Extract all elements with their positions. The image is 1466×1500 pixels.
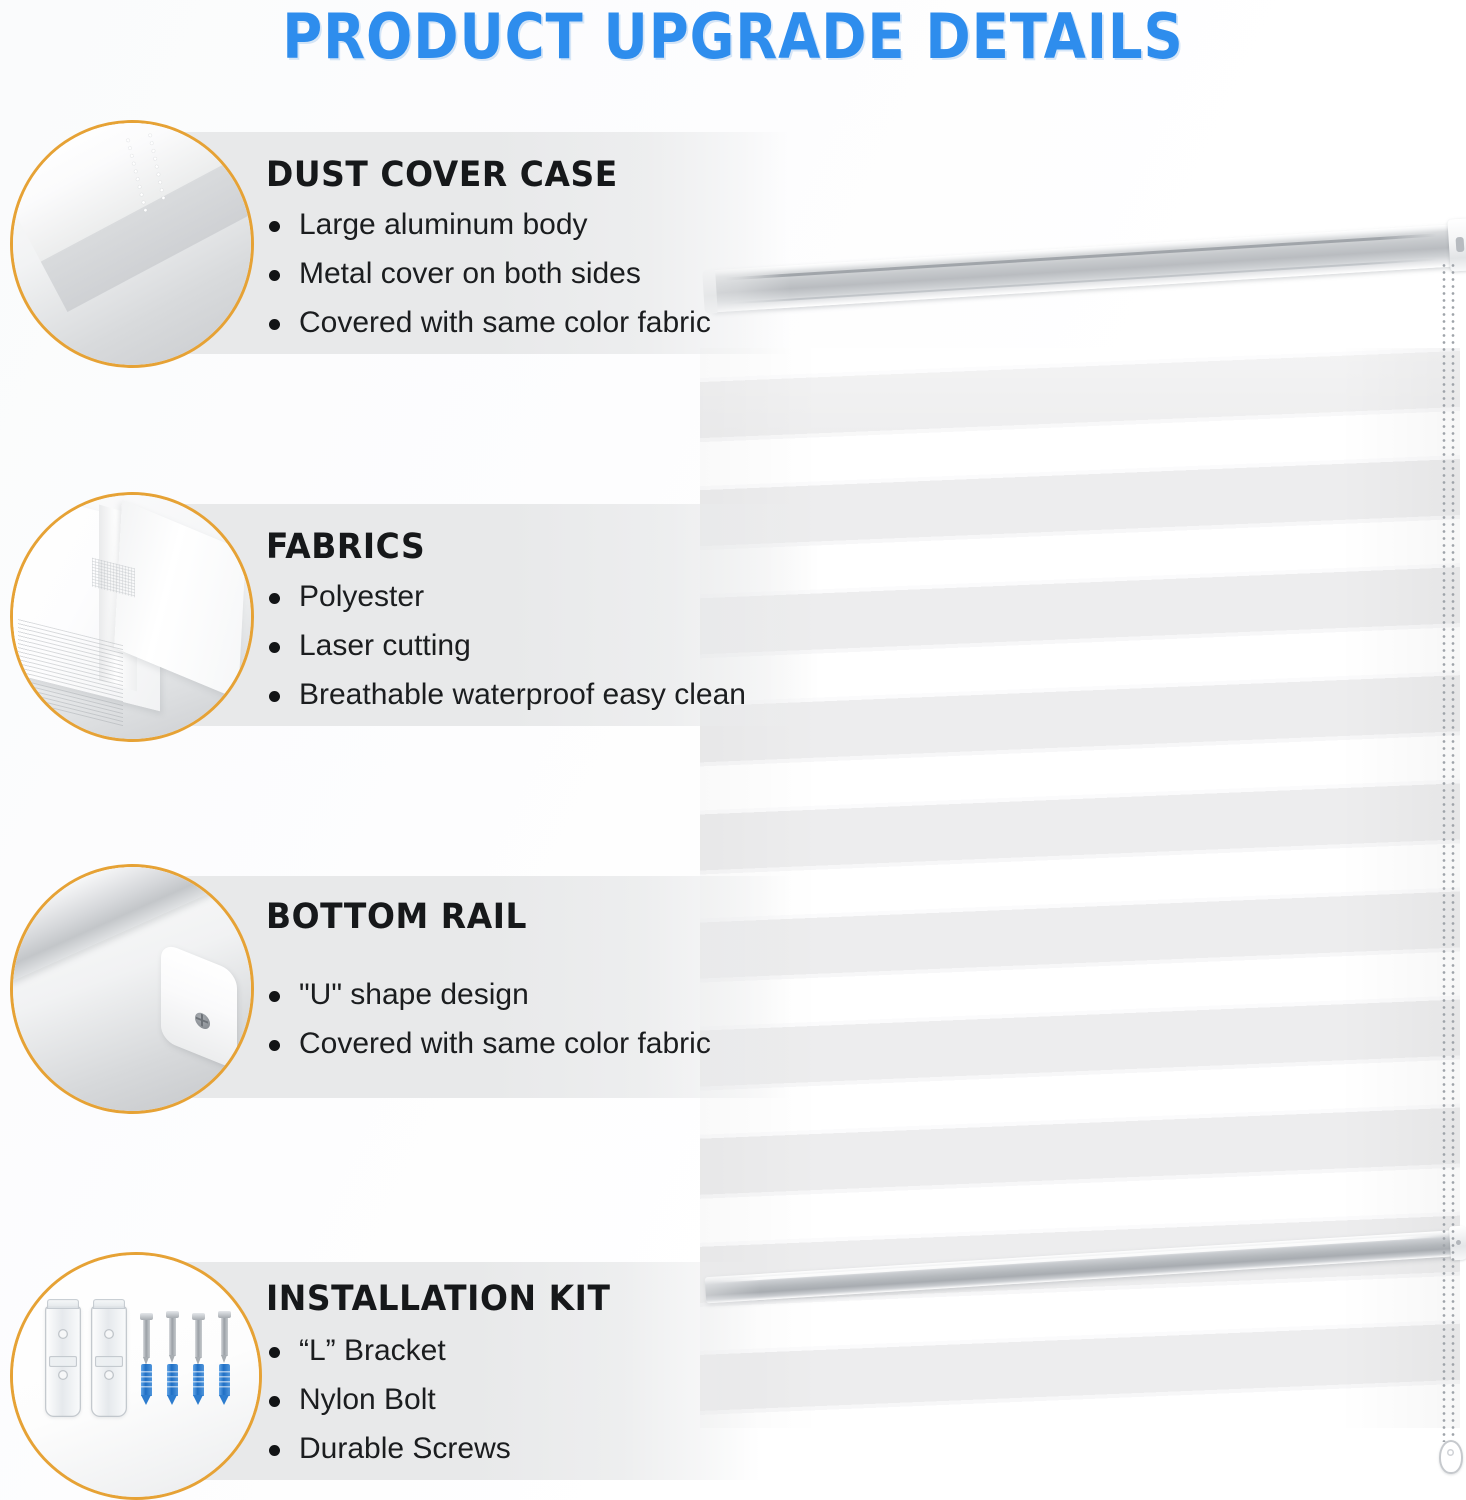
folded-fabric-photo bbox=[13, 495, 251, 739]
zebra-roller-blind-product-photo bbox=[700, 218, 1466, 1348]
photo-anchor-ribs bbox=[141, 1371, 152, 1391]
feature-bullet: "U" shape design bbox=[266, 978, 711, 1011]
photo-nylon-bolt-anchor bbox=[193, 1364, 204, 1396]
photo-anchor-tip bbox=[219, 1395, 229, 1405]
page-title: PRODUCT UPGRADE DETAILS bbox=[88, 4, 1378, 70]
photo-rail-end-cap bbox=[161, 942, 237, 1070]
photo-anchor-ribs bbox=[193, 1371, 204, 1391]
installation-kit-photo-oval bbox=[10, 1252, 262, 1500]
feature-bullet-list: Polyester Laser cutting Breathable water… bbox=[266, 580, 746, 711]
photo-bracket-top-flange bbox=[47, 1299, 79, 1309]
photo-anchor-tip bbox=[167, 1395, 177, 1405]
photo-bracket-hole bbox=[58, 1370, 68, 1380]
headrail-body bbox=[708, 224, 1461, 312]
feature-heading: DUST COVER CASE bbox=[266, 156, 684, 194]
photo-screw-tip bbox=[221, 1355, 227, 1363]
photo-l-bracket bbox=[91, 1306, 127, 1417]
brackets-screws-anchors-photo bbox=[13, 1255, 259, 1497]
photo-nylon-bolt-anchor bbox=[167, 1364, 178, 1396]
feature-text-group: FABRICS Polyester Laser cutting Breathab… bbox=[266, 528, 746, 711]
photo-bracket-hole bbox=[104, 1370, 114, 1380]
bottom-rail-photo-oval bbox=[10, 864, 254, 1114]
photo-bracket-tab bbox=[95, 1356, 123, 1367]
feature-heading: FABRICS bbox=[266, 528, 717, 566]
photo-screw-head bbox=[218, 1311, 231, 1318]
photo-bracket-top-flange bbox=[93, 1299, 125, 1309]
bottom-rail-endcap-photo bbox=[13, 867, 251, 1111]
photo-anchor-ribs bbox=[167, 1371, 178, 1391]
photo-screw-icon bbox=[194, 1010, 209, 1031]
photo-anchor-tip bbox=[193, 1395, 203, 1405]
photo-screw-tip bbox=[169, 1355, 175, 1363]
feature-block-installation-kit: INSTALLATION KIT “L” Bracket Nylon Bolt … bbox=[0, 1252, 760, 1500]
feature-bullet: Covered with same color fabric bbox=[266, 1027, 711, 1060]
feature-bullet: “L” Bracket bbox=[266, 1334, 633, 1367]
feature-bullet: Polyester bbox=[266, 580, 746, 613]
photo-nylon-bolt-anchor bbox=[141, 1364, 152, 1396]
photo-bracket-tab bbox=[49, 1356, 77, 1367]
feature-text-group: INSTALLATION KIT “L” Bracket Nylon Bolt … bbox=[266, 1280, 633, 1465]
feature-heading: BOTTOM RAIL bbox=[266, 898, 684, 936]
feature-bullet: Covered with same color fabric bbox=[266, 306, 711, 339]
chain-strand-front bbox=[1442, 262, 1446, 1442]
photo-durable-screw bbox=[143, 1318, 150, 1358]
dust-cover-cassette-headrail bbox=[708, 224, 1461, 312]
cassette-headrail-photo bbox=[13, 123, 251, 365]
feature-bullet-list: “L” Bracket Nylon Bolt Durable Screws bbox=[266, 1334, 633, 1465]
feature-block-bottom-rail: BOTTOM RAIL "U" shape design Covered wit… bbox=[0, 862, 790, 1114]
feature-bullet: Durable Screws bbox=[266, 1432, 633, 1465]
feature-bullet: Large aluminum body bbox=[266, 208, 711, 241]
feature-bullet: Breathable waterproof easy clean bbox=[266, 678, 746, 711]
photo-durable-screw bbox=[221, 1316, 228, 1356]
photo-nylon-bolt-anchor bbox=[219, 1364, 230, 1396]
feature-heading: INSTALLATION KIT bbox=[266, 1280, 611, 1318]
photo-durable-screw bbox=[169, 1316, 176, 1356]
photo-screw-head bbox=[140, 1313, 153, 1320]
feature-bullet-list: Large aluminum body Metal cover on both … bbox=[266, 208, 711, 339]
feature-block-dust-cover-case: DUST COVER CASE Large aluminum body Meta… bbox=[0, 118, 790, 368]
feature-bullet: Laser cutting bbox=[266, 629, 746, 662]
dust-cover-case-photo-oval bbox=[10, 120, 254, 368]
photo-anchor-ribs bbox=[219, 1371, 230, 1391]
photo-anchor-tip bbox=[141, 1395, 151, 1405]
photo-bracket-hole bbox=[104, 1329, 114, 1339]
infographic-canvas: PRODUCT UPGRADE DETAILS bbox=[0, 0, 1466, 1500]
chain-strand-back bbox=[1451, 262, 1455, 1440]
photo-screw-head bbox=[192, 1313, 205, 1320]
feature-text-group: BOTTOM RAIL "U" shape design Covered wit… bbox=[266, 898, 711, 1060]
photo-durable-screw bbox=[195, 1318, 202, 1358]
photo-bracket-hole bbox=[58, 1329, 68, 1339]
feature-block-fabrics: FABRICS Polyester Laser cutting Breathab… bbox=[0, 490, 820, 742]
fabrics-photo-oval bbox=[10, 492, 254, 742]
chain-tensioner-weight[interactable] bbox=[1439, 1440, 1463, 1474]
feature-bullet: Metal cover on both sides bbox=[266, 257, 711, 290]
feature-bullet-list: "U" shape design Covered with same color… bbox=[266, 978, 711, 1060]
feature-text-group: DUST COVER CASE Large aluminum body Meta… bbox=[266, 156, 711, 339]
photo-screw-head bbox=[166, 1311, 179, 1318]
feature-bullet: Nylon Bolt bbox=[266, 1383, 633, 1416]
photo-l-bracket bbox=[45, 1306, 81, 1417]
photo-cassette-body bbox=[10, 120, 254, 261]
